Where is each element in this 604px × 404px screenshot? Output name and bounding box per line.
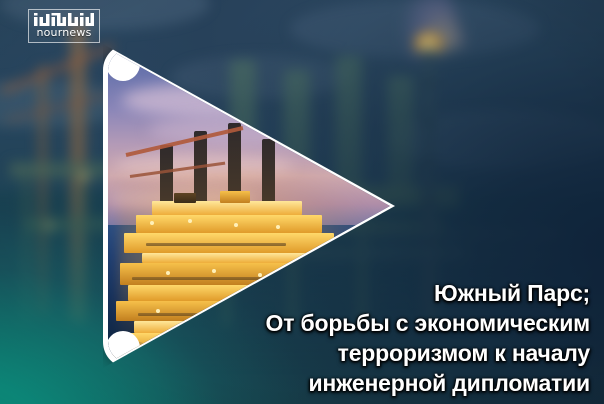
photo-cloud — [122, 83, 292, 117]
headline-line-1: Южный Парс; — [190, 278, 590, 308]
logo-latin-label: nournews — [36, 27, 91, 39]
headline-line-3: терроризмом к началу — [190, 338, 590, 368]
photo-cloud — [228, 65, 378, 93]
headline: Южный Парс; От борьбы с экономическим те… — [190, 278, 590, 398]
nournews-logo[interactable]: nournews — [28, 9, 100, 43]
headline-line-4: инженерной дипломатии — [190, 368, 590, 398]
persian-wordmark-icon — [33, 13, 95, 26]
triangle-corner-cap — [108, 331, 140, 363]
headline-line-2: От борьбы с экономическим — [190, 308, 590, 338]
news-graphic-card: nournews Южный Парс; От борьбы с экономи… — [0, 0, 604, 404]
